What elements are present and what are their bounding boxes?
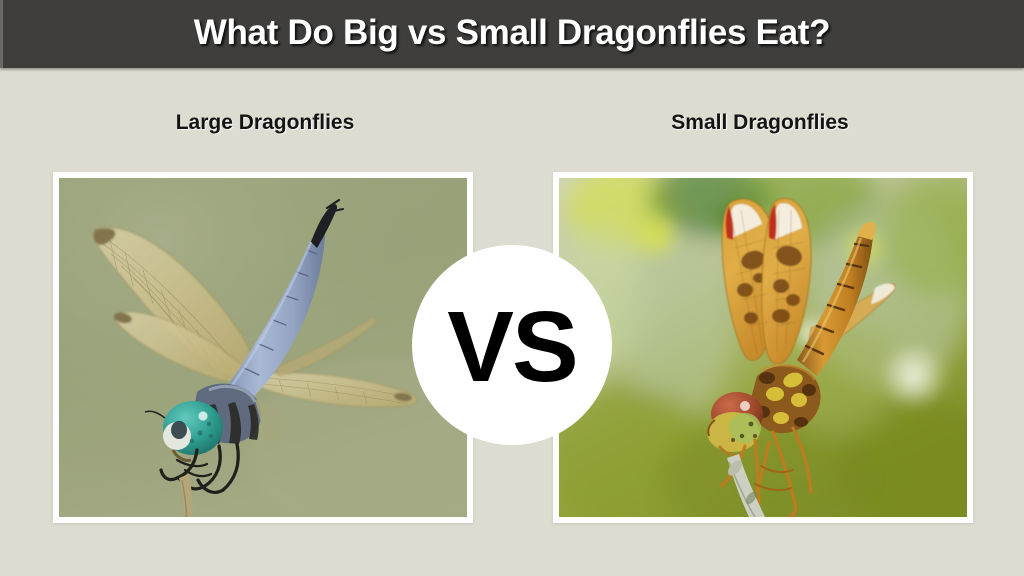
left-column-caption: Large Dragonflies	[55, 111, 475, 135]
page-title: What Do Big vs Small Dragonflies Eat?	[0, 0, 1024, 68]
right-photo-image	[559, 178, 967, 517]
left-photo-image	[59, 178, 467, 517]
left-photo-frame	[53, 172, 473, 523]
right-column-caption: Small Dragonflies	[550, 111, 970, 135]
header-bar: What Do Big vs Small Dragonflies Eat?	[0, 0, 1024, 68]
vs-label: VS	[412, 245, 612, 445]
right-photo-frame	[553, 172, 973, 523]
vs-badge: VS	[412, 245, 612, 445]
slide-canvas: What Do Big vs Small Dragonflies Eat? La…	[0, 0, 1024, 576]
